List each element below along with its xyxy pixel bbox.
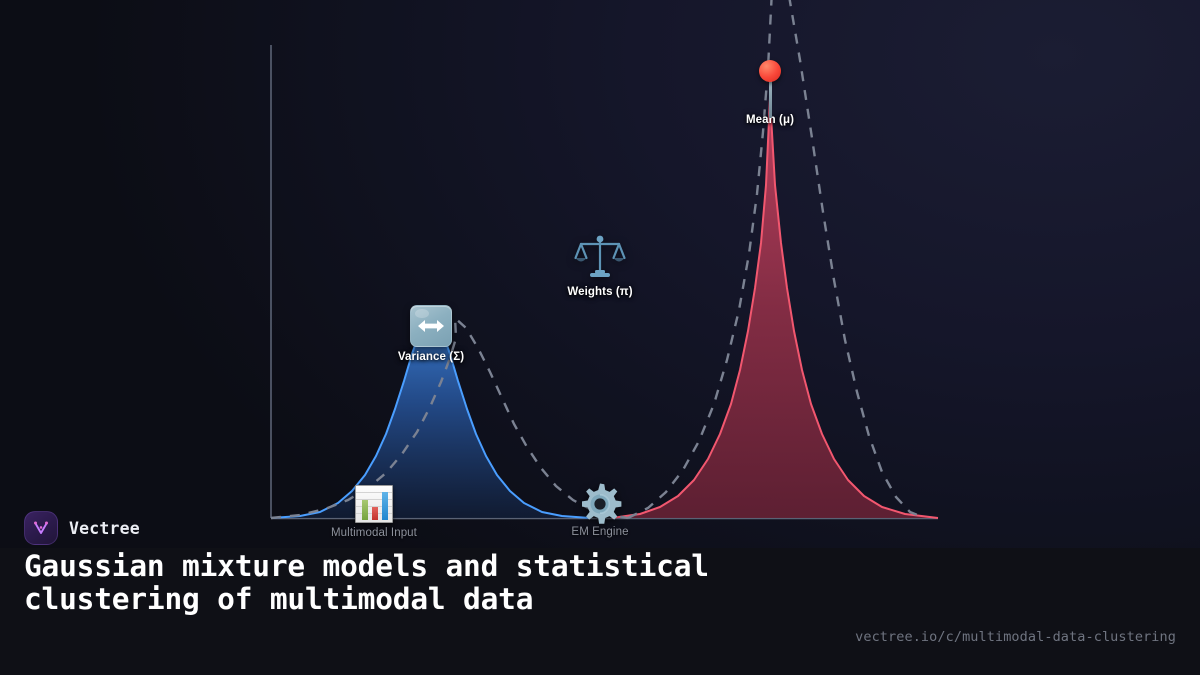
annotation-em-engine[interactable]: EM Engine	[510, 482, 690, 538]
annotation-variance[interactable]: Variance (Σ)	[341, 305, 521, 363]
source-url: vectree.io/c/multimodal-data-clustering	[855, 629, 1176, 645]
brand-name: Vectree	[69, 519, 140, 538]
annotation-weights[interactable]: Weights (π)	[510, 234, 690, 298]
annotation-em-engine-label: EM Engine	[571, 526, 628, 538]
vectree-logo-icon	[24, 511, 58, 545]
resize-horizontal-icon	[410, 305, 452, 347]
page-title: Gaussian mixture models and statistical …	[24, 550, 844, 616]
bar-chart-icon	[355, 485, 393, 523]
annotation-weights-label: Weights (π)	[567, 286, 632, 298]
map-pin-icon	[757, 60, 783, 118]
annotation-multimodal-input-label: Multimodal Input	[331, 527, 417, 539]
annotation-multimodal-input[interactable]: Multimodal Input	[284, 485, 464, 539]
screenshot-canvas: Variance (Σ) Weights (π) Mean (μ)	[0, 0, 1200, 675]
balance-scales-icon	[574, 234, 626, 282]
annotation-variance-label: Variance (Σ)	[398, 351, 464, 363]
brand-lockup[interactable]: Vectree	[24, 511, 140, 545]
red-gaussian-area	[612, 98, 938, 518]
annotation-mean[interactable]: Mean (μ)	[680, 60, 860, 126]
gear-icon	[578, 482, 622, 526]
